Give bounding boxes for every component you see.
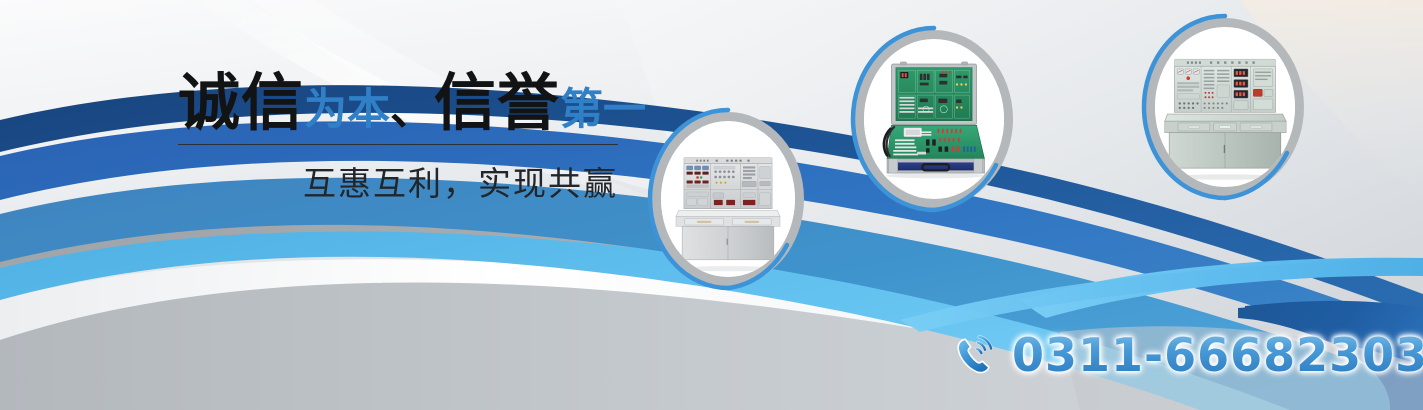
product-circle-3-ring: [1146, 18, 1304, 196]
product-image-workbench-1: [661, 121, 795, 277]
product-image-workbench-2: [1155, 27, 1295, 187]
product-circle-3[interactable]: [1146, 18, 1304, 196]
product-circle-1[interactable]: [652, 112, 804, 286]
product-circle-1-ring: [652, 112, 804, 286]
headline-block: 诚信为本、信誉第一 互惠互利，实现共赢: [0, 0, 660, 230]
headline-separator: 、: [390, 84, 434, 135]
phone-ringing-icon: [952, 332, 998, 378]
product-circle-2[interactable]: [855, 30, 1013, 208]
page-subtitle: 互惠互利，实现共赢: [178, 157, 618, 205]
headline-part3: 信誉: [434, 66, 560, 139]
product-image-case-trainer: [864, 39, 1004, 199]
contact-phone[interactable]: 0311-66682303: [952, 324, 1423, 386]
headline-part1: 诚信: [178, 66, 304, 139]
promo-banner: 诚信为本、信誉第一 互惠互利，实现共赢: [0, 0, 1423, 410]
product-circle-2-ring: [855, 30, 1013, 208]
headline-part2: 为本: [304, 85, 390, 135]
page-title: 诚信为本、信誉第一: [178, 72, 646, 134]
phone-number-text: 0311-66682303: [1012, 328, 1423, 382]
headline-part4: 第一: [560, 85, 646, 135]
title-divider: [178, 144, 618, 145]
